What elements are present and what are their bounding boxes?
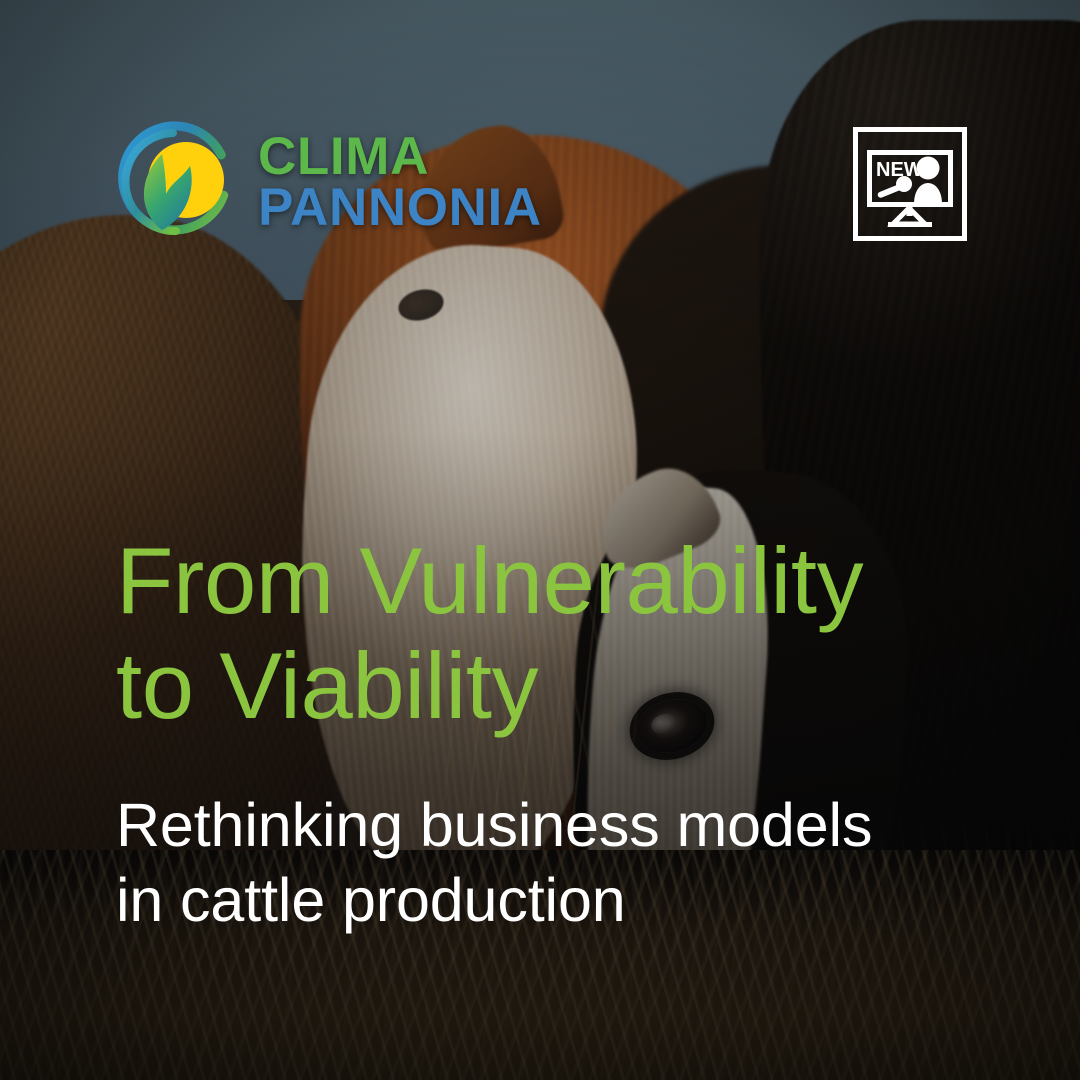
brand-wordmark: CLIMA PANNONIA bbox=[258, 132, 542, 233]
subheadline-line-1: Rethinking business models bbox=[116, 788, 996, 863]
brand-name-clima: CLIMA bbox=[258, 132, 542, 182]
social-post-card: CLIMA PANNONIA NEWS From Vulnerabilit bbox=[0, 0, 1080, 1080]
brand-logo[interactable]: CLIMA PANNONIA bbox=[116, 118, 542, 246]
news-badge[interactable]: NEWS bbox=[852, 126, 968, 242]
subheadline-line-2: in cattle production bbox=[116, 863, 996, 938]
subheadline: Rethinking business models in cattle pro… bbox=[116, 788, 996, 938]
headline: From Vulnerability to Viability bbox=[116, 528, 976, 738]
sun-leaf-circle-icon bbox=[116, 118, 244, 246]
brand-name-pannonia: PANNONIA bbox=[258, 183, 542, 233]
headline-line-2: to Viability bbox=[116, 633, 976, 738]
headline-line-1: From Vulnerability bbox=[116, 528, 976, 633]
